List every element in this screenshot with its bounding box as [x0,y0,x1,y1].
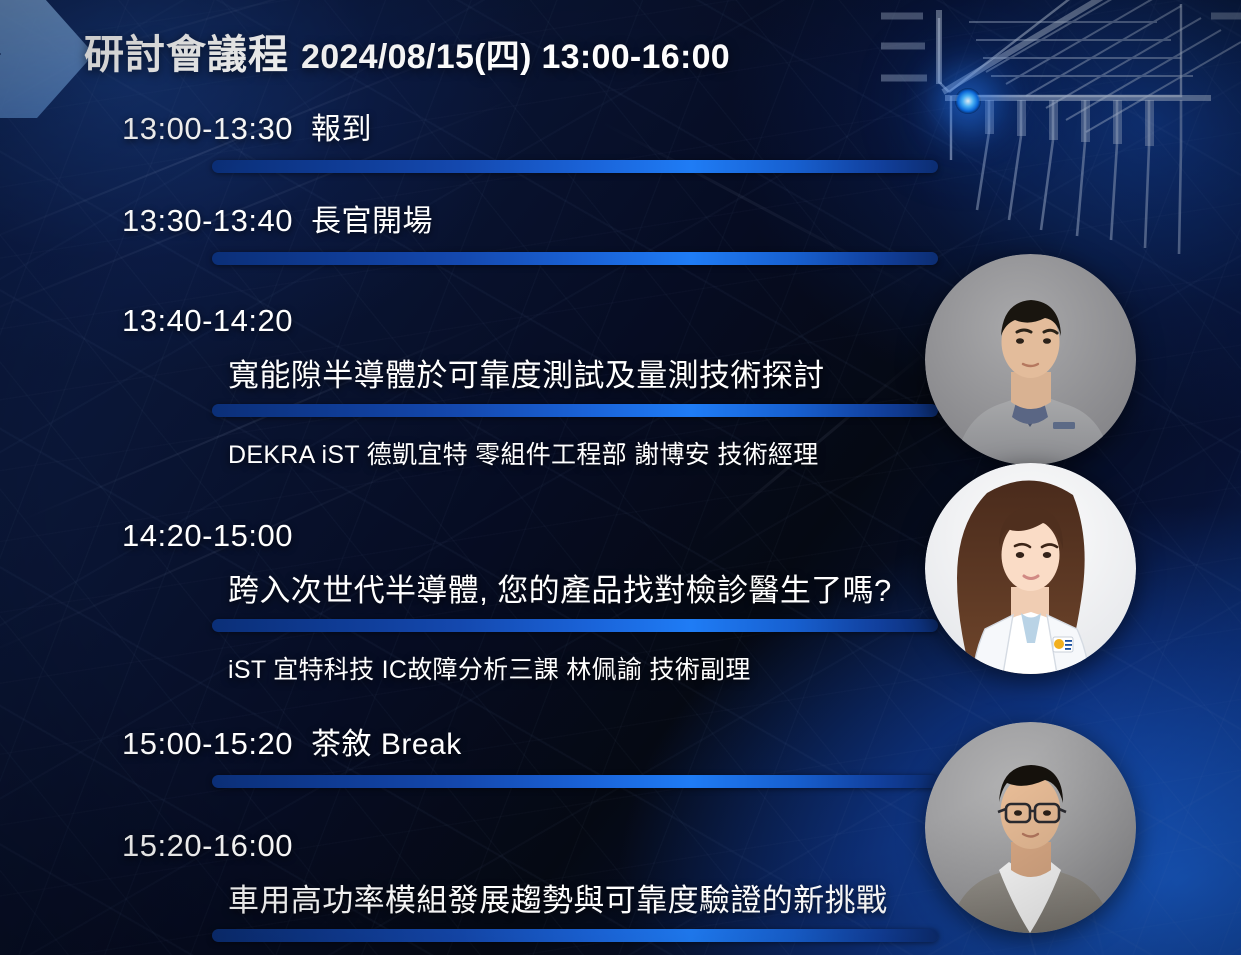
agenda-label: 茶敘 Break [311,719,462,763]
agenda-time: 13:30-13:40 [122,203,293,239]
agenda-time: 13:00-13:30 [122,111,293,147]
agenda-time: 14:20-15:00 [122,518,293,553]
header-date: 2024/08/15(四) 13:00-16:00 [301,29,730,78]
chevron-accent-icon [0,0,94,118]
speaker-photo-3 [925,722,1136,933]
agenda-label: 報到 [311,104,372,148]
agenda-divider-bar [212,252,938,265]
agenda-time: 13:40-14:20 [122,303,293,338]
agenda-item: 13:00-13:30 報到 [0,104,1241,173]
page-title: 研討會議程 [84,22,289,80]
agenda-divider-bar [212,619,938,632]
slide-header: 研討會議程 2024/08/15(四) 13:00-16:00 [84,22,730,80]
seminar-agenda-slide: 研討會議程 2024/08/15(四) 13:00-16:00 13:00-13… [0,0,1241,955]
agenda-divider-bar [212,775,938,788]
agenda-item: 13:30-13:40 長官開場 [0,196,1241,265]
speaker-photo-2 [925,463,1136,674]
agenda-divider-bar [212,160,938,173]
agenda-divider-bar [212,404,938,417]
agenda-time: 15:20-16:00 [122,828,293,863]
speaker-photo-1 [925,254,1136,465]
agenda-divider-bar [212,929,938,942]
agenda-label: 長官開場 [311,196,433,240]
agenda-time: 15:00-15:20 [122,726,293,762]
